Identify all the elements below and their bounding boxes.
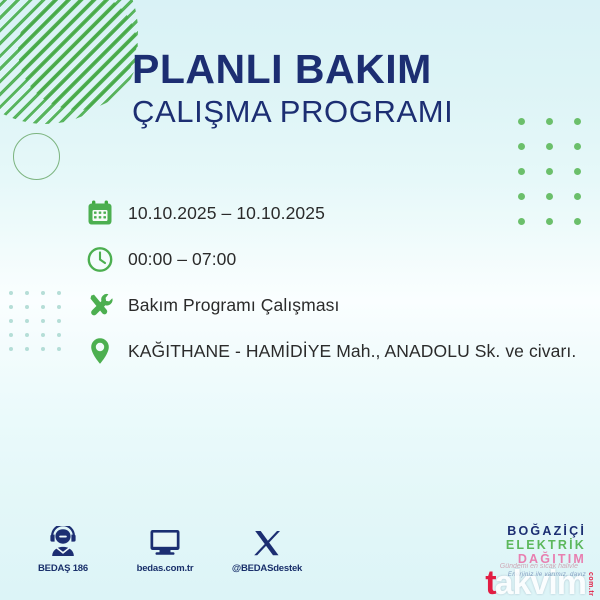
brand-line-1: BOĞAZİÇİ bbox=[506, 524, 586, 538]
page-subtitle: ÇALIŞMA PROGRAMI bbox=[132, 93, 552, 131]
dot-grid-decoration-left bbox=[9, 291, 73, 361]
headset-agent-icon bbox=[26, 522, 100, 558]
circle-outline-decoration bbox=[13, 133, 60, 180]
monitor-icon bbox=[128, 522, 202, 558]
info-row-time: 00:00 – 07:00 bbox=[82, 236, 592, 282]
striped-quarter-circle-decoration-inner bbox=[18, 0, 138, 110]
info-row-worktype: Bakım Programı Çalışması bbox=[82, 282, 592, 328]
watermark-text: akvim bbox=[495, 568, 586, 598]
contact-x-social[interactable]: @BEDASdestek bbox=[230, 522, 304, 574]
info-row-location-text: KAĞITHANE - HAMİDİYE Mah., ANADOLU Sk. v… bbox=[128, 341, 576, 362]
x-twitter-icon bbox=[230, 522, 304, 558]
info-row-date-text: 10.10.2025 – 10.10.2025 bbox=[128, 203, 325, 224]
watermark-first-letter: t bbox=[485, 568, 494, 598]
page-title: PLANLI BAKIM bbox=[132, 47, 552, 91]
info-row-time-text: 00:00 – 07:00 bbox=[128, 249, 236, 270]
planned-maintenance-poster: PLANLI BAKIM ÇALIŞMA PROGRAMI bbox=[0, 0, 600, 600]
contact-website[interactable]: bedas.com.tr bbox=[128, 522, 202, 574]
info-rows: 10.10.2025 – 10.10.2025 00:00 – 07:00 bbox=[82, 190, 592, 374]
contact-phone-label: BEDAŞ 186 bbox=[26, 563, 100, 574]
poster-title-block: PLANLI BAKIM ÇALIŞMA PROGRAMI bbox=[132, 47, 552, 131]
contact-x-label: @BEDASdestek bbox=[230, 563, 304, 574]
calendar-icon bbox=[82, 195, 118, 231]
info-row-location: KAĞITHANE - HAMİDİYE Mah., ANADOLU Sk. v… bbox=[82, 328, 592, 374]
takvim-watermark: t akvim com.tr bbox=[485, 568, 594, 598]
clock-icon bbox=[82, 241, 118, 277]
contact-phone[interactable]: BEDAŞ 186 bbox=[26, 522, 100, 574]
tools-icon bbox=[82, 287, 118, 323]
location-pin-icon bbox=[82, 333, 118, 369]
watermark-tld: com.tr bbox=[587, 572, 594, 596]
poster-footer: BEDAŞ 186 bedas.com.tr bbox=[0, 514, 600, 600]
contact-website-label: bedas.com.tr bbox=[128, 563, 202, 574]
info-row-worktype-text: Bakım Programı Çalışması bbox=[128, 295, 339, 316]
brand-line-2: ELEKTRİK bbox=[506, 538, 586, 552]
info-row-date: 10.10.2025 – 10.10.2025 bbox=[82, 190, 592, 236]
contact-channels: BEDAŞ 186 bedas.com.tr bbox=[26, 522, 304, 574]
